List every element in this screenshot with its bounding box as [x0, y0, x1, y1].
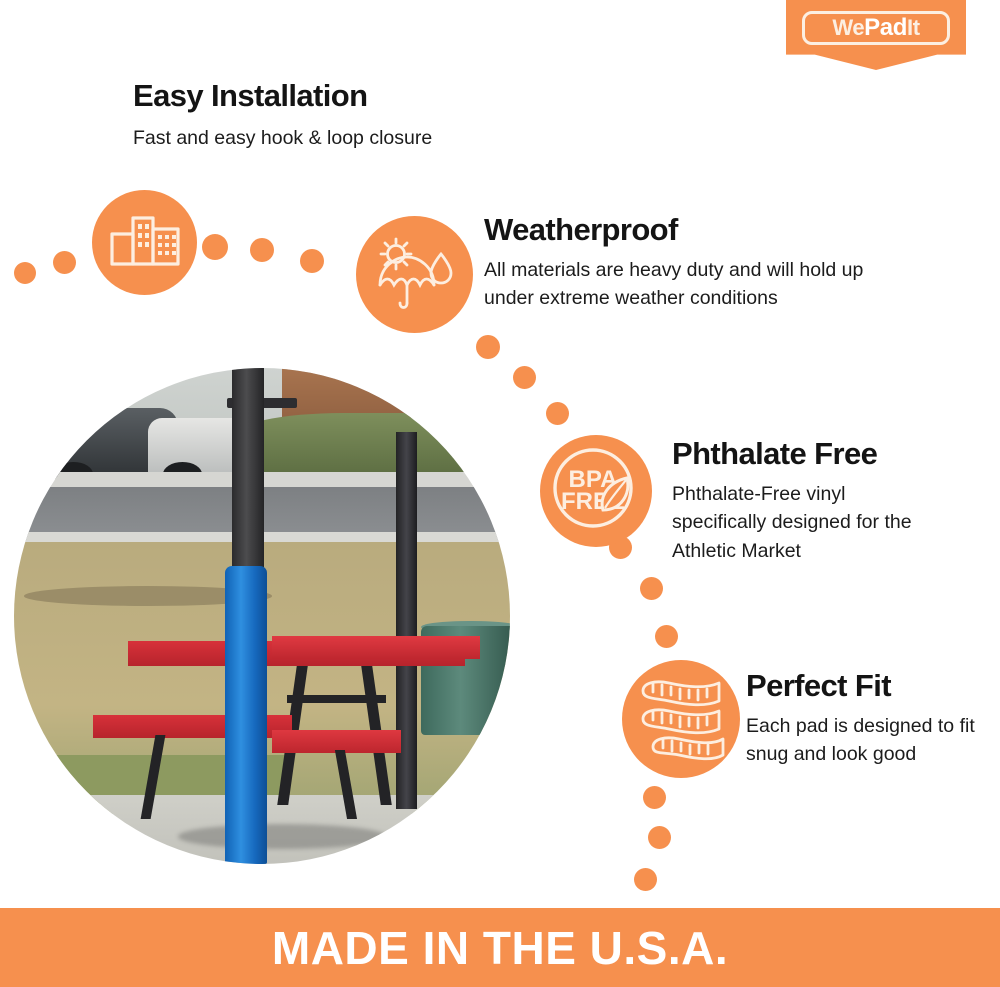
logo-text-it: It — [907, 15, 920, 40]
sun-umbrella-raindrop-icon — [373, 237, 457, 313]
feature-title-weatherproof: Weatherproof — [484, 214, 678, 247]
brand-logo[interactable]: WePadIt — [786, 0, 966, 70]
feature-title-easy-installation: Easy Installation — [133, 80, 367, 113]
path-dot — [648, 826, 671, 849]
photo-picnic-table-top-right — [272, 636, 480, 659]
path-dot — [640, 577, 663, 600]
photo-ground-shadow — [178, 824, 386, 849]
feature-description-easy-installation: Fast and easy hook & loop closure — [133, 124, 553, 152]
path-dot — [250, 238, 274, 262]
path-dot — [476, 335, 500, 359]
feature-title-phthalate-free: Phthalate Free — [672, 438, 877, 471]
logo-text-we: We — [832, 15, 864, 40]
icon-circle-easy-installation — [92, 190, 197, 295]
path-dot — [655, 625, 678, 648]
feature-title-perfect-fit: Perfect Fit — [746, 670, 891, 703]
photo-table-brace — [287, 695, 386, 703]
path-dot — [202, 234, 228, 260]
logo-wordmark: WePadIt — [832, 16, 919, 40]
infographic-canvas: WePadIt Easy Installation Fast and easy … — [0, 0, 1000, 987]
logo-text-pad: Pad — [864, 14, 907, 41]
measuring-tape-icon — [635, 675, 727, 763]
feature-description-phthalate-free: Phthalate-Free vinyl specifically design… — [672, 480, 942, 565]
feature-description-weatherproof: All materials are heavy duty and will ho… — [484, 256, 894, 313]
path-dot — [513, 366, 536, 389]
photo-blue-pole-pad — [225, 566, 267, 864]
path-dot — [14, 262, 36, 284]
made-in-usa-text: MADE IN THE U.S.A. — [272, 921, 728, 975]
feature-description-perfect-fit: Each pad is designed to fit snug and loo… — [746, 712, 981, 769]
icon-circle-perfect-fit — [622, 660, 740, 778]
made-in-usa-banner: MADE IN THE U.S.A. — [0, 908, 1000, 987]
path-dot — [53, 251, 76, 274]
building-icon — [109, 212, 181, 274]
path-dot — [643, 786, 666, 809]
icon-circle-weatherproof — [356, 216, 473, 333]
logo-outline-box: WePadIt — [802, 11, 950, 45]
path-dot — [546, 402, 569, 425]
photo-hedge — [232, 413, 510, 473]
path-dot — [634, 868, 657, 891]
icon-circle-phthalate-free: BPA FREE — [540, 435, 652, 547]
path-dot — [300, 249, 324, 273]
bpa-free-leaf-icon: BPA FREE — [543, 438, 649, 544]
product-photo — [14, 368, 510, 864]
